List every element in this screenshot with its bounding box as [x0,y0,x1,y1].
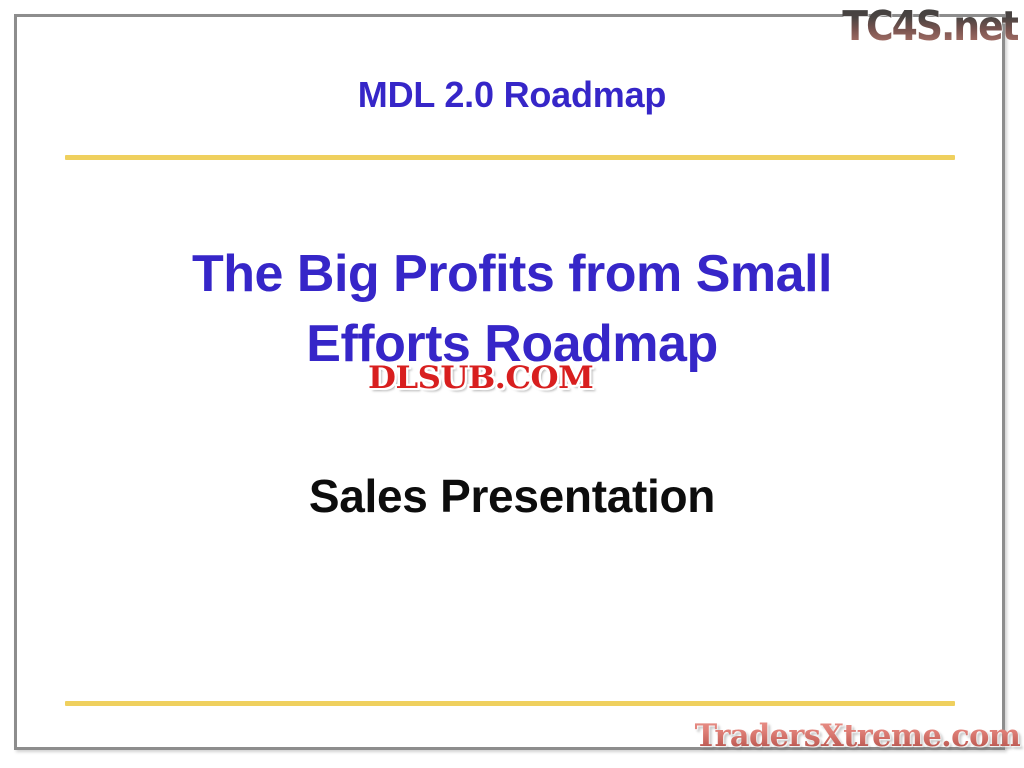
subhead-text: Sales Presentation [60,469,964,524]
headline-line-1: The Big Profits from Small [60,240,964,310]
headline-line-2: Efforts Roadmap [60,310,964,380]
slide-body: The Big Profits from Small Efforts Roadm… [60,240,964,525]
slide-canvas: MDL 2.0 Roadmap The Big Profits from Sma… [0,0,1024,768]
slide-title: MDL 2.0 Roadmap [0,76,1024,114]
divider-rule-bottom [65,701,955,706]
headline-block: The Big Profits from Small Efforts Roadm… [60,240,964,379]
divider-rule-top [65,155,955,160]
